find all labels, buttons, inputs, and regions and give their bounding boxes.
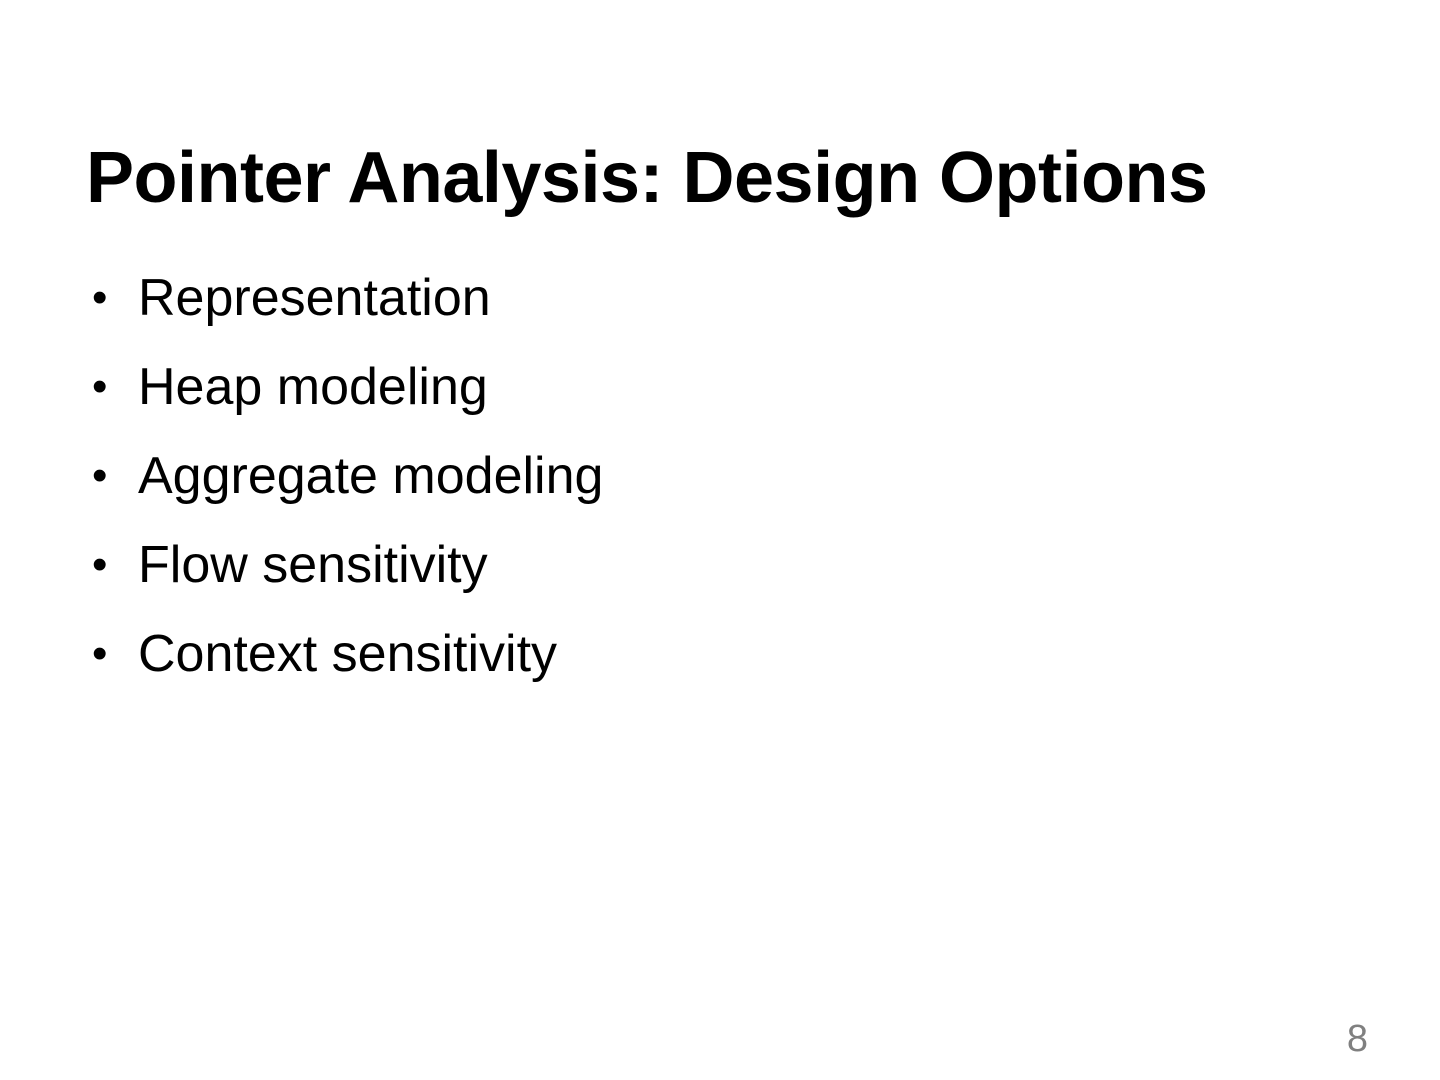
bullet-point-icon: • <box>92 262 116 334</box>
presentation-slide: Pointer Analysis: Design Options • Repre… <box>0 0 1440 1080</box>
bullet-point-icon: • <box>92 618 116 690</box>
list-item: • Flow sensitivity <box>86 529 1356 618</box>
list-item: • Representation <box>86 262 1356 351</box>
list-item-label: Heap modeling <box>138 351 488 423</box>
list-item-label: Flow sensitivity <box>138 529 488 601</box>
list-item-label: Aggregate modeling <box>138 440 603 512</box>
page-number: 8 <box>1347 1020 1368 1058</box>
list-item: • Context sensitivity <box>86 618 1356 707</box>
page-title: Pointer Analysis: Design Options <box>86 140 1366 218</box>
list-item-label: Context sensitivity <box>138 618 557 690</box>
bullet-point-icon: • <box>92 529 116 601</box>
bullet-point-icon: • <box>92 440 116 512</box>
bullet-list: • Representation • Heap modeling • Aggre… <box>86 262 1356 707</box>
list-item-label: Representation <box>138 262 491 334</box>
list-item: • Heap modeling <box>86 351 1356 440</box>
bullet-point-icon: • <box>92 351 116 423</box>
list-item: • Aggregate modeling <box>86 440 1356 529</box>
